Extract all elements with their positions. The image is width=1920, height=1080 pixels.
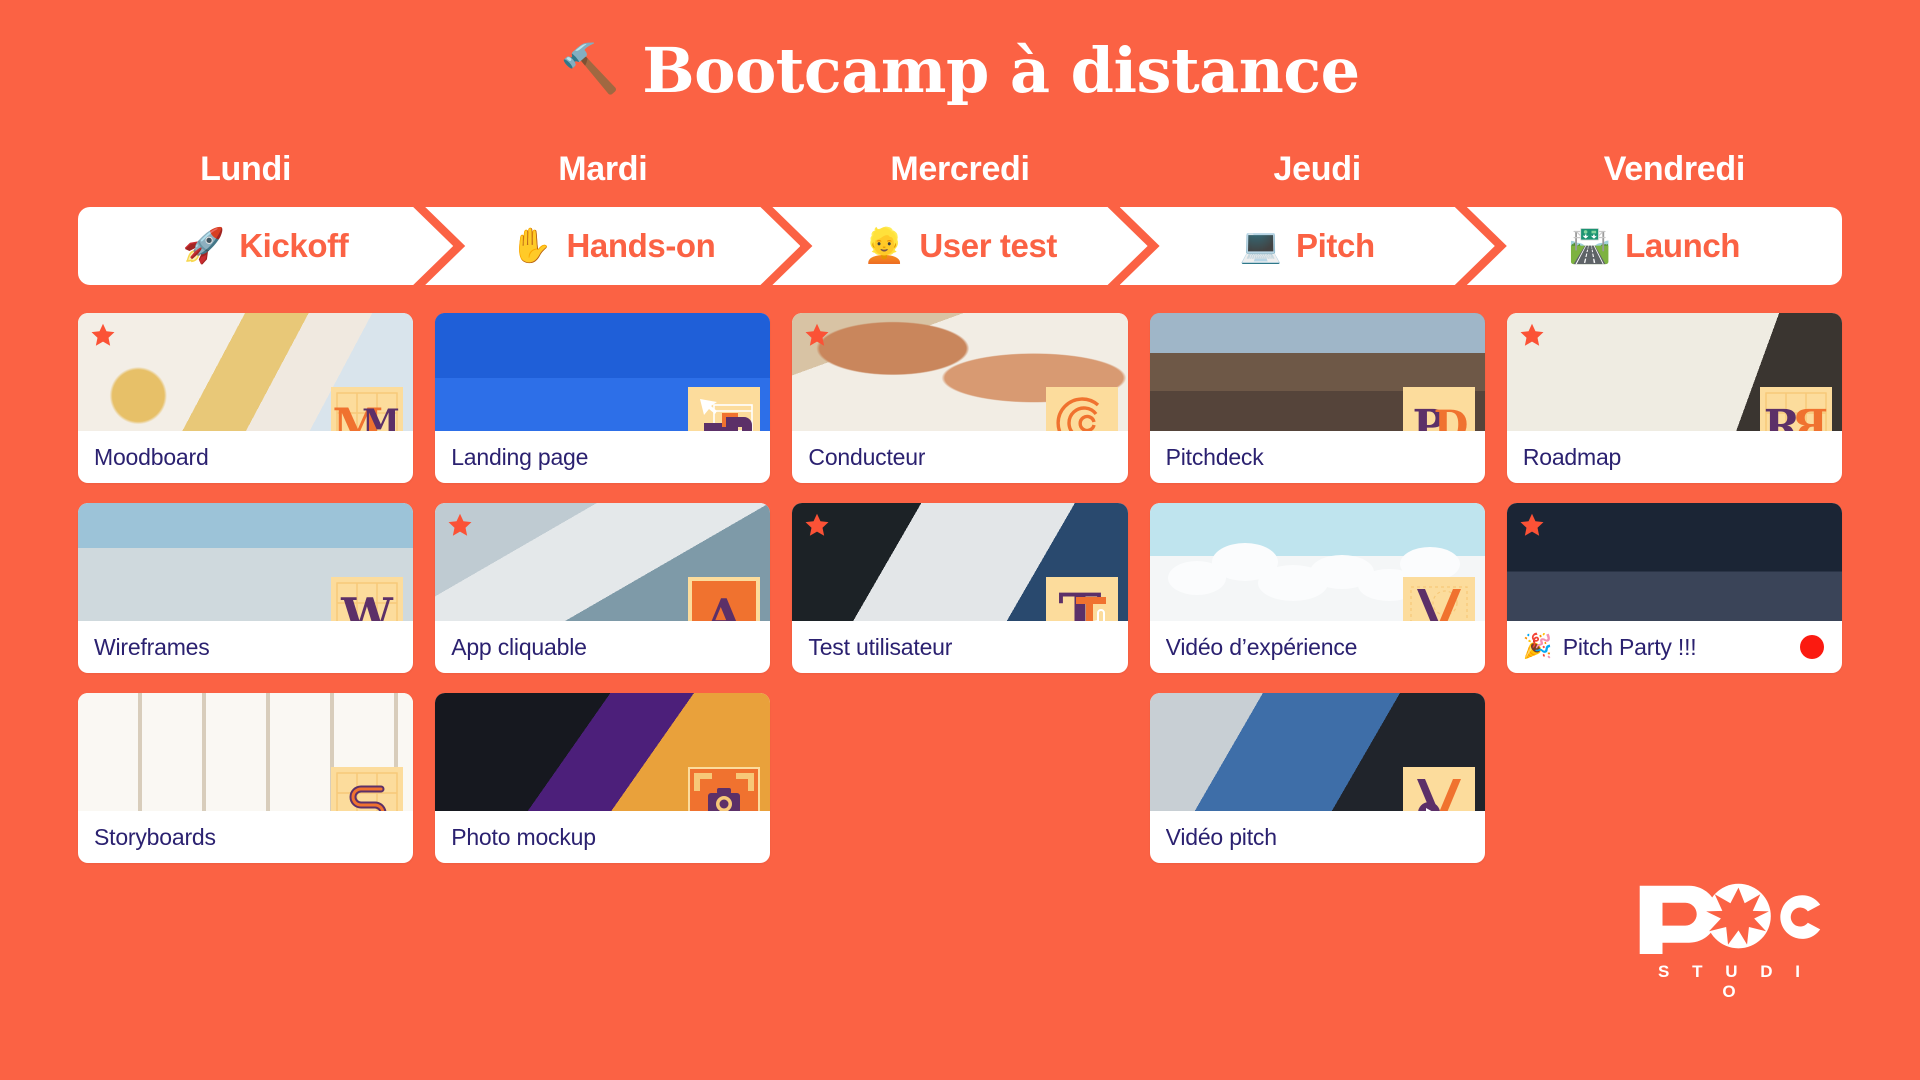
star-badge bbox=[447, 512, 473, 538]
card-footer: App cliquable bbox=[435, 621, 770, 673]
svg-text:A: A bbox=[705, 589, 744, 621]
day-column-3: Conducteur T Test utilisateur bbox=[792, 313, 1127, 673]
card-thumbnail: W bbox=[78, 503, 413, 621]
day-column-2: Landing page A App cliquable bbox=[435, 313, 770, 863]
card-footer: Roadmap bbox=[1507, 431, 1842, 483]
card-title: Conducteur bbox=[808, 444, 925, 471]
poc-logo-subtitle: S T U D I O bbox=[1634, 962, 1824, 1002]
card-thumbnail bbox=[1150, 693, 1485, 811]
card-footer: Landing page bbox=[435, 431, 770, 483]
motorway-icon: 🛣️ bbox=[1569, 229, 1611, 263]
day-header-3: Mercredi bbox=[792, 150, 1127, 189]
deliverable-tile-S bbox=[331, 767, 403, 811]
day-header-5: Vendredi bbox=[1507, 150, 1842, 189]
phase-label: Hands-on bbox=[566, 227, 715, 265]
poc-studio-logo: S T U D I O bbox=[1634, 880, 1824, 1002]
card-thumbnail: A bbox=[435, 503, 770, 621]
card-title: Photo mockup bbox=[451, 824, 596, 851]
card-thumbnail: PD bbox=[1150, 313, 1485, 431]
deliverable-card[interactable]: MM Moodboard bbox=[78, 313, 413, 483]
day-header-1: Lundi bbox=[78, 150, 413, 189]
deliverable-tile-A: A bbox=[688, 577, 760, 621]
card-footer: Test utilisateur bbox=[792, 621, 1127, 673]
star-badge bbox=[804, 512, 830, 538]
deliverable-card[interactable]: R R Roadmap bbox=[1507, 313, 1842, 483]
star-badge bbox=[1519, 322, 1545, 348]
phase-step-5[interactable]: 🛣️ Launch bbox=[1467, 207, 1842, 285]
day-header-2: Mardi bbox=[435, 150, 770, 189]
card-footer: Photo mockup bbox=[435, 811, 770, 863]
card-footer: Vidéo pitch bbox=[1150, 811, 1485, 863]
day-column-4: PD Pitchdeck Vidéo d’expérience bbox=[1150, 313, 1485, 863]
card-thumbnail: R R bbox=[1507, 313, 1842, 431]
card-footer: Storyboards bbox=[78, 811, 413, 863]
card-thumbnail bbox=[435, 313, 770, 431]
card-title: Pitch Party !!! bbox=[1563, 634, 1697, 661]
page-title: Bootcamp à distance bbox=[642, 34, 1359, 107]
phase-label: Pitch bbox=[1296, 227, 1375, 265]
deliverable-card[interactable]: Photo mockup bbox=[435, 693, 770, 863]
page-header: 🔨 Bootcamp à distance bbox=[0, 0, 1920, 140]
day-column-5: R R Roadmap 🎉 Pitch Party !!! bbox=[1507, 313, 1842, 673]
phase-step-1[interactable]: 🚀 Kickoff bbox=[78, 207, 453, 285]
deliverable-tile-Vplay bbox=[1403, 767, 1475, 811]
deliverable-card[interactable]: Conducteur bbox=[792, 313, 1127, 483]
phase-chevron-bar: 🚀 Kickoff✋ Hands-on👱 User test💻 Pitch🛣️ … bbox=[0, 207, 1920, 285]
card-footer: Moodboard bbox=[78, 431, 413, 483]
star-badge bbox=[804, 322, 830, 348]
phase-step-4[interactable]: 💻 Pitch bbox=[1120, 207, 1495, 285]
record-dot-icon bbox=[1800, 635, 1824, 659]
card-title: App cliquable bbox=[451, 634, 587, 661]
card-thumbnail: T bbox=[792, 503, 1127, 621]
day-column-1: MM Moodboard W Wireframes bbox=[78, 313, 413, 863]
raised-hand-icon: ✋ bbox=[510, 229, 552, 263]
phase-label: User test bbox=[919, 227, 1057, 265]
phase-label: Launch bbox=[1625, 227, 1740, 265]
star-badge bbox=[90, 322, 116, 348]
card-thumbnail: MM bbox=[78, 313, 413, 431]
deliverable-tile-R: R R bbox=[1760, 387, 1832, 431]
day-header-4: Jeudi bbox=[1150, 150, 1485, 189]
day-headers: LundiMardiMercrediJeudiVendredi bbox=[0, 150, 1920, 189]
card-thumbnail bbox=[1507, 503, 1842, 621]
card-title: Wireframes bbox=[94, 634, 210, 661]
deliverable-card[interactable]: 🎉 Pitch Party !!! bbox=[1507, 503, 1842, 673]
deliverable-card[interactable]: W Wireframes bbox=[78, 503, 413, 673]
deliverable-tile-camera bbox=[688, 767, 760, 811]
phase-step-3[interactable]: 👱 User test bbox=[772, 207, 1147, 285]
card-title: Test utilisateur bbox=[808, 634, 952, 661]
deliverable-card[interactable]: Landing page bbox=[435, 313, 770, 483]
board-grid: MM Moodboard W Wireframes bbox=[0, 313, 1920, 863]
deliverable-tile-P: PD bbox=[1403, 387, 1475, 431]
card-thumbnail bbox=[792, 313, 1127, 431]
deliverable-tile-window bbox=[688, 387, 760, 431]
card-thumbnail bbox=[435, 693, 770, 811]
svg-text:W: W bbox=[340, 588, 394, 621]
card-thumbnail bbox=[78, 693, 413, 811]
svg-text:R: R bbox=[1791, 401, 1828, 431]
rocket-icon: 🚀 bbox=[183, 229, 225, 263]
deliverable-card[interactable]: Vidéo d’expérience bbox=[1150, 503, 1485, 673]
deliverable-card[interactable]: PD Pitchdeck bbox=[1150, 313, 1485, 483]
deliverable-tile-V bbox=[1403, 577, 1475, 621]
card-footer: 🎉 Pitch Party !!! bbox=[1507, 621, 1842, 673]
deliverable-card[interactable]: Vidéo pitch bbox=[1150, 693, 1485, 863]
poc-logo-mark bbox=[1634, 880, 1824, 954]
card-title: Roadmap bbox=[1523, 444, 1621, 471]
card-footer: Vidéo d’expérience bbox=[1150, 621, 1485, 673]
card-title: Pitchdeck bbox=[1166, 444, 1264, 471]
card-thumbnail bbox=[1150, 503, 1485, 621]
svg-text:M: M bbox=[362, 402, 400, 431]
card-title: Landing page bbox=[451, 444, 588, 471]
card-title: Storyboards bbox=[94, 824, 216, 851]
card-title: Vidéo pitch bbox=[1166, 824, 1277, 851]
phase-step-2[interactable]: ✋ Hands-on bbox=[425, 207, 800, 285]
phase-label: Kickoff bbox=[239, 227, 348, 265]
deliverable-tile-T: T bbox=[1046, 577, 1118, 621]
svg-text:D: D bbox=[1433, 402, 1468, 431]
star-badge bbox=[1519, 512, 1545, 538]
card-footer: Conducteur bbox=[792, 431, 1127, 483]
deliverable-tile-W: W bbox=[331, 577, 403, 621]
laptop-icon: 💻 bbox=[1240, 229, 1282, 263]
party-popper-icon: 🎉 bbox=[1523, 635, 1553, 659]
deliverable-tile-C bbox=[1046, 387, 1118, 431]
card-title: Vidéo d’expérience bbox=[1166, 634, 1358, 661]
card-footer: Pitchdeck bbox=[1150, 431, 1485, 483]
deliverable-card[interactable]: A App cliquable bbox=[435, 503, 770, 673]
card-title: Moodboard bbox=[94, 444, 209, 471]
deliverable-card[interactable]: T Test utilisateur bbox=[792, 503, 1127, 673]
person-blond-hair-icon: 👱 bbox=[863, 229, 905, 263]
deliverable-card[interactable]: Storyboards bbox=[78, 693, 413, 863]
hammer-and-pick-icon: 🔨 bbox=[560, 46, 620, 94]
card-footer: Wireframes bbox=[78, 621, 413, 673]
deliverable-tile-M: MM bbox=[331, 387, 403, 431]
